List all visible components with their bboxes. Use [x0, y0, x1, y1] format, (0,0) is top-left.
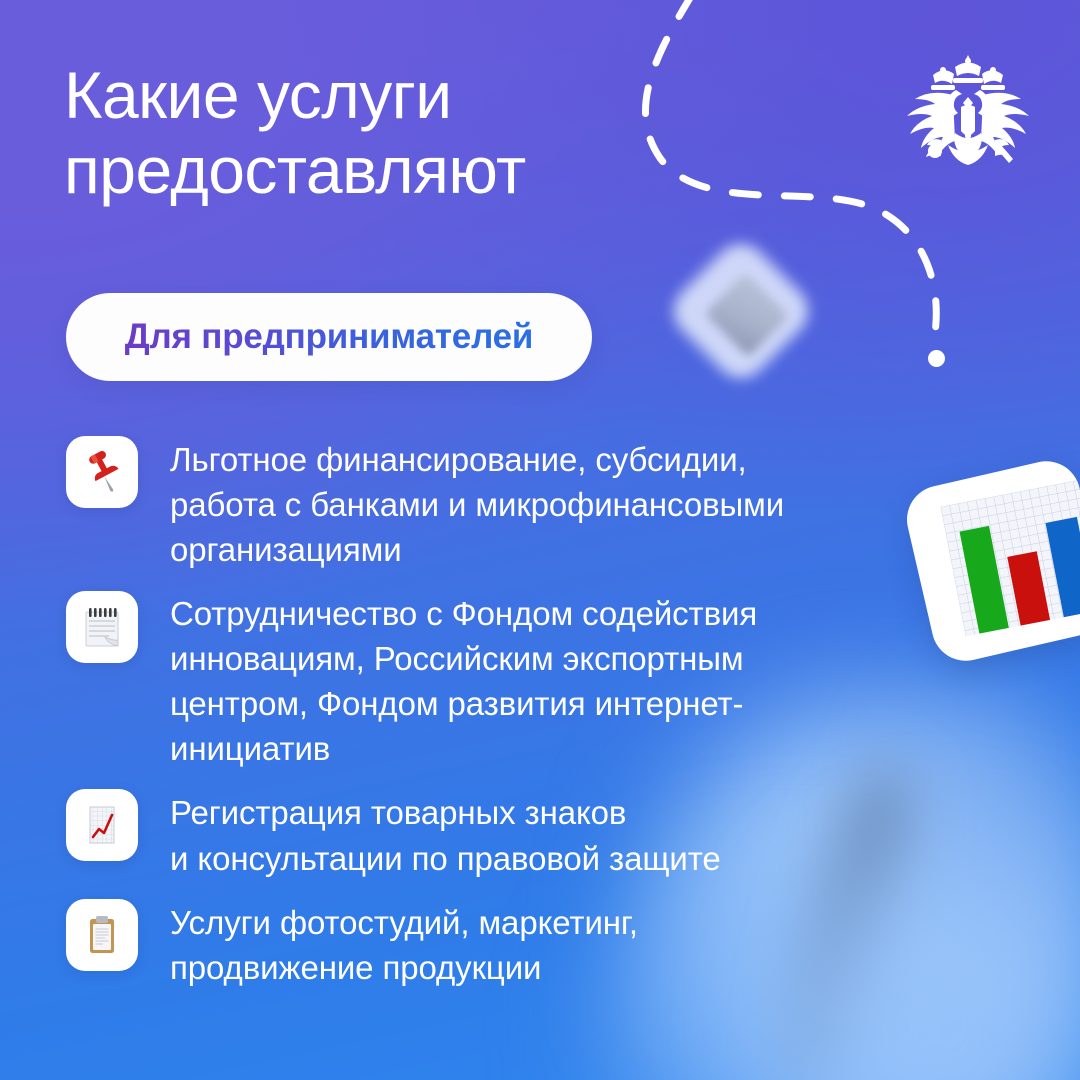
- page-title: Какие услуги предоставляют: [64, 58, 704, 208]
- list-item-text: Регистрация товарных знаков и консультац…: [170, 789, 721, 880]
- list-item: Льготное финансирование, субсидии, работ…: [66, 436, 966, 573]
- list-item-text: Льготное финансирование, субсидии, работ…: [170, 436, 784, 573]
- list-item-text: Сотрудничество с Фондом содействия иннов…: [170, 591, 757, 772]
- chart-increasing-icon: [66, 789, 138, 861]
- audience-pill-label: Для предпринимателей: [125, 317, 533, 357]
- audience-pill-button[interactable]: Для предпринимателей: [66, 293, 592, 381]
- spiral-notepad-icon: [66, 591, 138, 663]
- services-list: Льготное финансирование, субсидии, работ…: [66, 436, 966, 1008]
- list-item: Регистрация товарных знаков и консультац…: [66, 789, 966, 880]
- russian-double-headed-eagle-emblem: [893, 45, 1043, 180]
- list-item-text: Услуги фотостудий, маркетинг, продвижени…: [170, 899, 638, 990]
- path-end-dot: [928, 350, 945, 367]
- infographic-card: Какие услуги предоставляют Для предприни…: [0, 0, 1080, 1080]
- list-item: Услуги фотостудий, маркетинг, продвижени…: [66, 899, 966, 990]
- pushpin-icon: [66, 436, 138, 508]
- list-item: Сотрудничество с Фондом содействия иннов…: [66, 591, 966, 772]
- clipboard-icon: [66, 899, 138, 971]
